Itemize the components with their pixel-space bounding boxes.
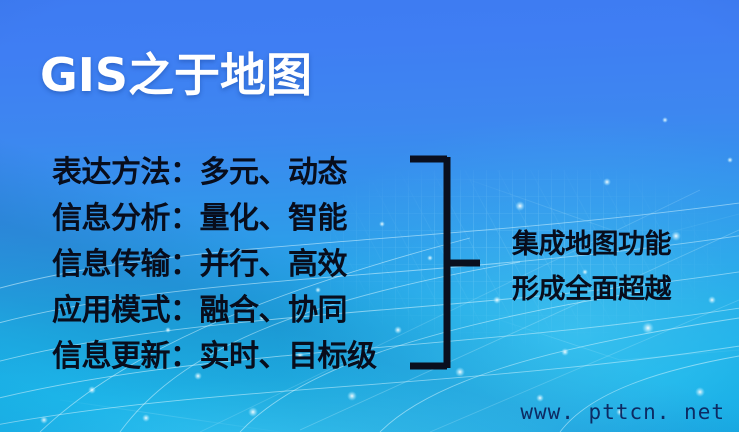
list-item: 信息传输：并行、高效 [52, 242, 392, 288]
feature-list: 表达方法：多元、动态 信息分析：量化、智能 信息传输：并行、高效 应用模式：融合… [52, 150, 392, 380]
list-item: 信息更新：实时、目标级 [52, 334, 392, 380]
site-watermark: www. pttcn. net [520, 400, 725, 424]
conclusion-block: 集成地图功能 形成全面超越 [512, 222, 692, 312]
right-bracket-icon [400, 155, 490, 370]
conclusion-line: 集成地图功能 [512, 222, 692, 267]
page-title: GIS之于地图 [40, 52, 312, 98]
list-item: 信息分析：量化、智能 [52, 196, 392, 242]
list-item: 应用模式：融合、协同 [52, 288, 392, 334]
slide-canvas: GIS之于地图 表达方法：多元、动态 信息分析：量化、智能 信息传输：并行、高效… [0, 0, 739, 432]
conclusion-line: 形成全面超越 [512, 267, 692, 312]
list-item: 表达方法：多元、动态 [52, 150, 392, 196]
